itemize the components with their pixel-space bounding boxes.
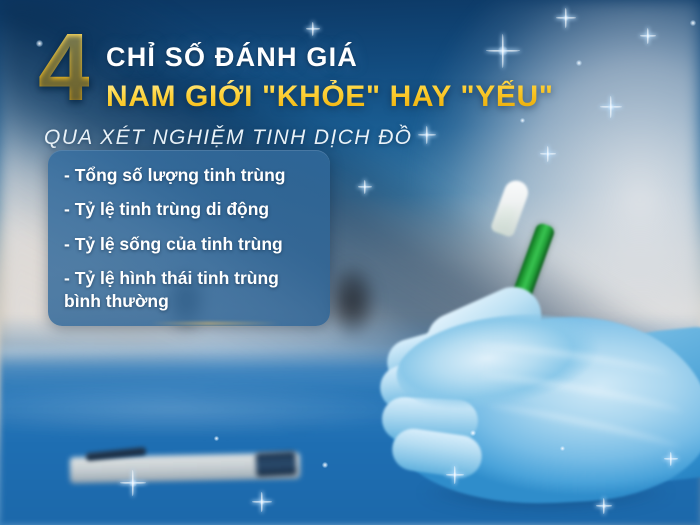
panel-gold-accent — [150, 322, 280, 325]
list-item: - Tỷ lệ hình thái tinh trùng bình thường — [64, 267, 314, 314]
headline-number: 4 — [38, 20, 89, 116]
headline-block: 4 CHỈ SỐ ĐÁNH GIÁ NAM GIỚI "KHỎE" HAY "Y… — [0, 18, 700, 148]
list-item: - Tổng số lượng tinh trùng — [64, 164, 314, 187]
list-item: - Tỷ lệ tinh trùng di động — [64, 198, 314, 221]
sparkle-dot — [560, 446, 565, 451]
poster-image: 4 CHỈ SỐ ĐÁNH GIÁ NAM GIỚI "KHỎE" HAY "Y… — [0, 0, 700, 525]
sparkle-dot — [322, 462, 328, 468]
sparkle-dot — [214, 436, 219, 441]
headline-line-1: CHỈ SỐ ĐÁNH GIÁ — [106, 42, 358, 73]
headline-line-2: NAM GIỚI "KHỎE" HAY "YẾU" — [106, 80, 554, 114]
list-item: - Tỷ lệ sống của tinh trùng — [64, 233, 314, 256]
desk-instrument-tip — [255, 451, 296, 477]
bullet-list-panel: - Tổng số lượng tinh trùng - Tỷ lệ tinh … — [48, 150, 330, 326]
headline-subtitle: QUA XÉT NGHIỆM TINH DỊCH ĐỒ — [44, 126, 412, 150]
sparkle-dot — [470, 430, 476, 436]
